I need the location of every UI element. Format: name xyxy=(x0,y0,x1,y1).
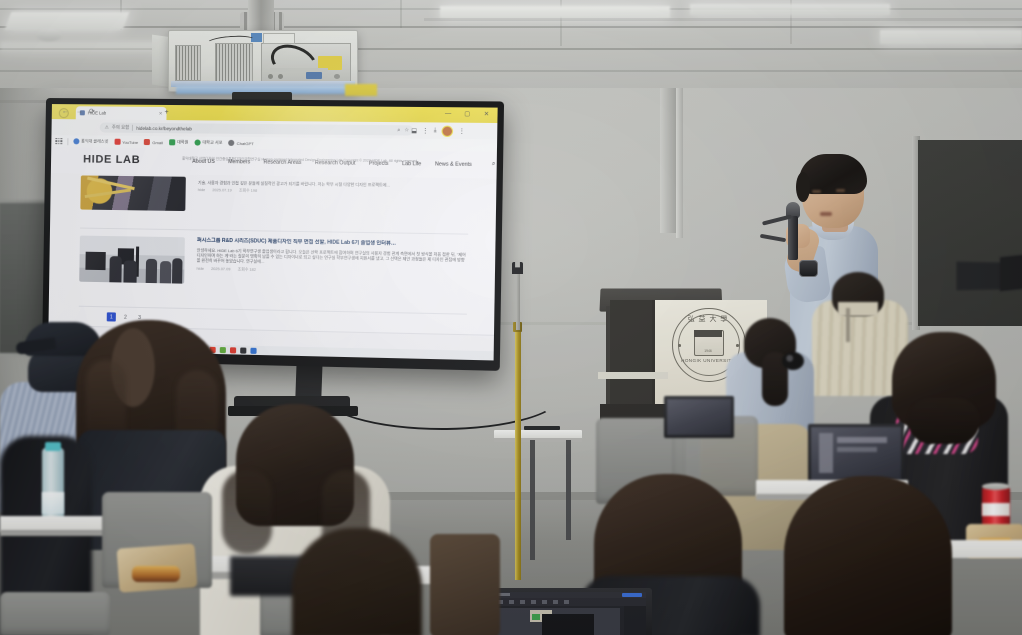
presenter-eye xyxy=(812,190,821,193)
side-table-leg xyxy=(530,440,535,560)
presenter-eye xyxy=(836,189,845,192)
lanyard xyxy=(846,308,850,342)
bookmark-label: 홍익대 클래스넷 xyxy=(81,138,108,144)
bookmark-label: ChatGPT xyxy=(237,140,254,145)
ceiling-light-fixture xyxy=(0,42,170,52)
ceiling-light-fixture xyxy=(440,6,670,18)
thumb-figure xyxy=(146,259,158,283)
microphone-stand-upper xyxy=(516,268,520,330)
smoke-detector-icon xyxy=(36,28,62,41)
app-right-panel xyxy=(624,606,646,635)
projector-warning-sticker xyxy=(345,84,377,96)
article-divider xyxy=(80,228,468,235)
youtube-icon xyxy=(114,139,120,145)
taskbar-icon[interactable] xyxy=(250,348,256,354)
extensions-icon[interactable]: ⬓ xyxy=(411,127,417,134)
article-body: 퍼시스그룹 R&D 시리즈(SDUC) 제품디자인 직무 면접 선발, HIDE… xyxy=(197,237,469,276)
browser-toolbar-right: ⬓ ⋮ ⤓ ⋮ xyxy=(411,125,465,137)
presenter-hair-side xyxy=(796,172,810,202)
screen-row xyxy=(837,437,887,443)
presenter-mouth xyxy=(820,212,832,216)
bookmark-item[interactable]: 대학원 xyxy=(166,139,192,145)
back-icon[interactable]: ← xyxy=(62,108,69,116)
thumb-figure xyxy=(160,261,171,283)
thumb-figure xyxy=(172,258,183,283)
taskbar-icon[interactable] xyxy=(240,347,246,353)
article-thumbnail xyxy=(79,236,185,284)
bookmark-item[interactable]: 대학교 서포 xyxy=(191,139,225,145)
page-button-1[interactable]: 1 xyxy=(107,312,116,321)
chatgpt-icon xyxy=(229,140,235,146)
wall-pillar xyxy=(660,88,676,233)
floor-cable xyxy=(320,356,564,430)
article-meta: hide 2025.07.09 조회수 182 xyxy=(197,266,468,276)
smartwatch xyxy=(799,260,818,277)
zoom-icon[interactable]: ⌕ xyxy=(397,127,400,133)
projector-port xyxy=(278,74,283,79)
window-close-button[interactable]: ✕ xyxy=(484,112,489,118)
side-table-leg xyxy=(566,440,571,540)
bookmark-label: YouTube xyxy=(122,139,138,144)
chrome-menu-icon[interactable]: ⋮ xyxy=(459,128,465,135)
seal-banner xyxy=(694,330,722,337)
ceiling-tile-seam xyxy=(400,0,402,28)
foreground-bag xyxy=(430,534,500,635)
site-search-icon[interactable]: ⌕ xyxy=(492,161,496,168)
ceiling-light-fixture xyxy=(880,30,1022,44)
projector-port xyxy=(334,74,340,79)
thumb-highlight xyxy=(85,189,131,198)
seal-korean-text: 弘 益 大 學 xyxy=(672,314,744,324)
projector-vent xyxy=(215,43,253,83)
audience-neck xyxy=(838,302,878,316)
thumb-figure xyxy=(123,260,136,282)
foreground-person-head xyxy=(292,528,422,635)
sandwich-filling xyxy=(132,566,180,582)
ceiling-tile-seam xyxy=(424,18,1022,21)
apps-grid-icon[interactable] xyxy=(55,138,62,145)
soda-can-label xyxy=(982,503,1010,516)
seal-dot xyxy=(678,344,681,347)
podium-laptop[interactable] xyxy=(956,262,1002,291)
window-maximize-button[interactable]: ▢ xyxy=(464,111,470,117)
seal-dot xyxy=(736,344,739,347)
projector-enclosure xyxy=(168,30,358,92)
app-action-button[interactable] xyxy=(622,593,642,597)
ceiling-light-fixture xyxy=(690,4,890,15)
reload-icon[interactable]: ⟳ xyxy=(89,108,95,116)
podium-laptop-edge[interactable] xyxy=(1000,255,1022,292)
gmail-icon xyxy=(144,139,150,145)
podium-side-panel xyxy=(610,300,654,412)
article-excerpt: 기술, 사용자 경험과 인접 깊은 분들께 실질적인 광고가 되기를 바랍니다.… xyxy=(198,179,469,188)
podium-shelf xyxy=(598,372,668,379)
display-surface[interactable]: HIDE Lab ✕ + — ▢ ✕ ← → ⟳ ⚠ 주의 요함 hidelab… xyxy=(48,104,498,360)
bookmark-label: 대학원 xyxy=(177,139,188,145)
microphone-body xyxy=(788,216,798,260)
not-secure-label: 주의 요함 xyxy=(112,125,130,131)
forward-icon[interactable]: → xyxy=(76,108,83,116)
audience-hair-lower xyxy=(908,398,980,444)
address-bar-url: hidelab.co.kr/beyondthelab xyxy=(136,125,192,131)
bookmark-icon xyxy=(169,139,175,145)
article-date: 2025.07.19 xyxy=(212,188,231,193)
profile-avatar[interactable] xyxy=(442,126,454,137)
foreground-person-head xyxy=(784,476,952,635)
article-author: hide xyxy=(198,188,205,193)
soda-can-top xyxy=(982,483,1010,490)
bookmark-label: Gmail xyxy=(152,140,163,145)
projector-access-window xyxy=(261,43,351,83)
article-author: hide xyxy=(197,266,204,271)
bookmark-divider xyxy=(67,138,68,145)
doorway xyxy=(918,140,1022,326)
article-list-item[interactable]: 기술, 사용자 경험과 인접 깊은 분들께 실질적인 광고가 되기를 바랍니다.… xyxy=(80,175,469,225)
article-thumbnail xyxy=(80,175,186,211)
water-bottle-cap xyxy=(45,442,61,451)
omnibox-actions: ⌕ ☆ xyxy=(397,127,409,133)
site-logo[interactable]: HIDE LAB xyxy=(83,153,140,166)
desk xyxy=(944,540,1022,558)
wall-pipe xyxy=(676,88,683,238)
hair-clip xyxy=(782,352,804,370)
taskbar-icon[interactable] xyxy=(220,347,226,353)
article-meta: hide 2025.07.19 조회수 198 xyxy=(198,188,469,197)
projector-vent xyxy=(175,45,201,81)
canvas-object xyxy=(542,614,594,635)
bookmark-item[interactable]: ChatGPT xyxy=(225,140,256,146)
download-icon[interactable]: ⤓ xyxy=(434,128,437,135)
page-button-2[interactable]: 2 xyxy=(121,313,130,322)
thumb-figure xyxy=(109,256,121,282)
tab-close-icon[interactable]: ✕ xyxy=(159,110,163,116)
phone-icon xyxy=(194,140,200,146)
article-body: 기술, 사용자 경험과 인접 깊은 분들께 실질적인 광고가 되기를 바랍니다.… xyxy=(198,177,469,197)
bookmark-item[interactable]: YouTube xyxy=(111,139,141,145)
lecture-hall-photo: HIDE Lab ✕ + — ▢ ✕ ← → ⟳ ⚠ 주의 요함 hidelab… xyxy=(0,0,1022,635)
ceiling-light-fixture xyxy=(5,12,130,30)
omnibox-divider xyxy=(132,125,133,131)
not-secure-icon: ⚠ xyxy=(105,125,109,131)
thumb-shape xyxy=(85,252,105,270)
article-date: 2025.07.09 xyxy=(211,267,230,272)
article-views: 조회수 182 xyxy=(238,267,256,272)
article-views: 조회수 198 xyxy=(239,188,257,193)
article-list-item[interactable]: 퍼시스그룹 R&D 시리즈(SDUC) 제품디자인 직무 면접 선발, HIDE… xyxy=(79,236,468,310)
nav-item-news-events[interactable]: News & Events xyxy=(435,161,472,168)
bookmark-label: 대학교 서포 xyxy=(202,140,222,146)
split-menu-icon[interactable]: ⋮ xyxy=(422,127,428,134)
water-bottle-label xyxy=(42,492,64,514)
laptop-screen xyxy=(667,399,731,435)
screen-row xyxy=(837,447,877,452)
chair xyxy=(0,592,110,635)
article-excerpt: 안녕하세요. HIDE Lab 6기 학부연구생 졸업생이라고 합니다. 오늘은… xyxy=(197,247,468,268)
projector-port xyxy=(268,74,273,79)
bookmark-icon xyxy=(73,138,79,144)
ceiling-tile-seam xyxy=(0,26,1022,28)
window-minimize-button[interactable]: — xyxy=(445,111,451,117)
screen-panel xyxy=(819,433,833,473)
bookmark-item[interactable]: Gmail xyxy=(141,139,166,145)
microphone-stand-pole xyxy=(515,328,521,580)
bookmark-star-icon[interactable]: ☆ xyxy=(404,127,409,133)
bookmark-item[interactable]: 홍익대 클래스넷 xyxy=(70,138,111,144)
seal-year: 1946 xyxy=(698,349,718,353)
projector-vga-port xyxy=(306,72,322,79)
projector-mount-pole xyxy=(248,0,274,34)
projector-label xyxy=(263,33,295,44)
hair-strand xyxy=(222,470,272,554)
canvas-object xyxy=(532,614,540,620)
taskbar-icon[interactable] xyxy=(230,347,236,353)
new-tab-button[interactable]: + xyxy=(164,109,168,116)
